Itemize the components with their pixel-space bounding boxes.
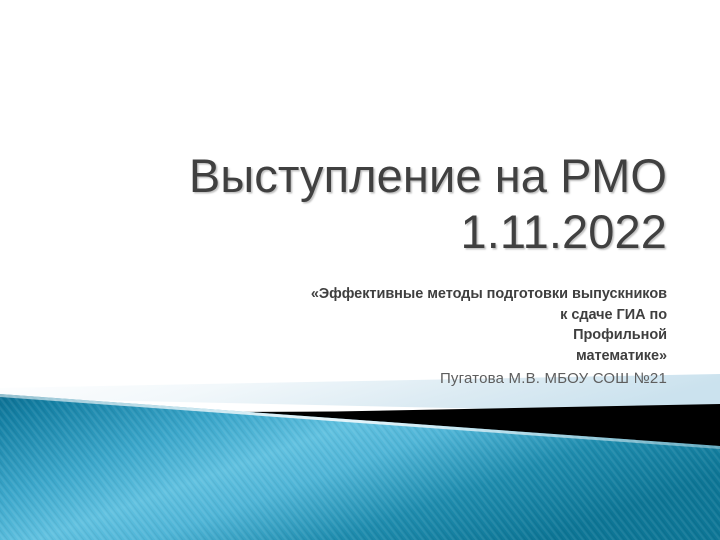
author-credit: Пугатова М.В. МБОУ СОШ №21 — [52, 368, 667, 390]
teal-banner-shape — [0, 394, 720, 540]
slide-title: Выступление на РМО 1.11.2022 — [52, 148, 667, 260]
teal-banner-highlight — [0, 394, 720, 449]
title-line-1: Выступление на РМО — [52, 148, 667, 204]
teal-banner-texture — [0, 394, 720, 540]
title-line-2: 1.11.2022 — [52, 204, 667, 260]
subtitle-line-2: к сдаче ГИА по — [52, 305, 667, 326]
subtitle-line-1: «Эффективные методы подготовки выпускник… — [52, 284, 667, 305]
black-wedge-shape-fill — [205, 404, 720, 455]
slide-decoration — [0, 0, 720, 540]
subtitle-line-4: математике» — [52, 346, 667, 367]
presentation-slide: Выступление на РМО 1.11.2022 «Эффективны… — [0, 0, 720, 540]
slide-subtitle: «Эффективные методы подготовки выпускник… — [52, 284, 667, 390]
subtitle-line-3: Профильной — [52, 325, 667, 346]
black-wedge-shape — [214, 410, 720, 452]
